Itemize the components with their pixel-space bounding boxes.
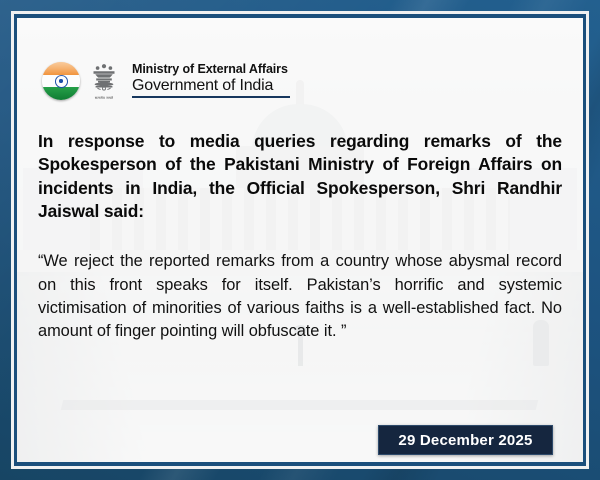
date-badge: 29 December 2025 bbox=[378, 425, 553, 455]
statement-body: In response to media queries regarding r… bbox=[38, 130, 562, 343]
ministry-logo-lockup: सत्यमेव जयते Ministry of External Affair… bbox=[42, 62, 290, 100]
logo-underline-rule bbox=[132, 96, 290, 98]
statement-headline: In response to media queries regarding r… bbox=[38, 130, 562, 223]
india-flag-roundel-icon bbox=[42, 62, 80, 100]
press-statement-poster: सत्यमेव जयते Ministry of External Affair… bbox=[0, 0, 600, 480]
ministry-name: Ministry of External Affairs bbox=[132, 63, 290, 76]
roundel-gloss bbox=[42, 62, 80, 80]
emblem-motto-text: सत्यमेव जयते bbox=[89, 97, 119, 100]
statement-quote: “We reject the reported remarks from a c… bbox=[38, 250, 562, 343]
content-card: सत्यमेव जयते Ministry of External Affair… bbox=[17, 18, 583, 462]
ministry-logo-text: Ministry of External Affairs Government … bbox=[132, 63, 290, 99]
government-name: Government of India bbox=[132, 77, 290, 94]
flag-green-band bbox=[42, 87, 80, 100]
state-emblem-of-india-icon: सत्यमेव जयते bbox=[89, 62, 119, 100]
